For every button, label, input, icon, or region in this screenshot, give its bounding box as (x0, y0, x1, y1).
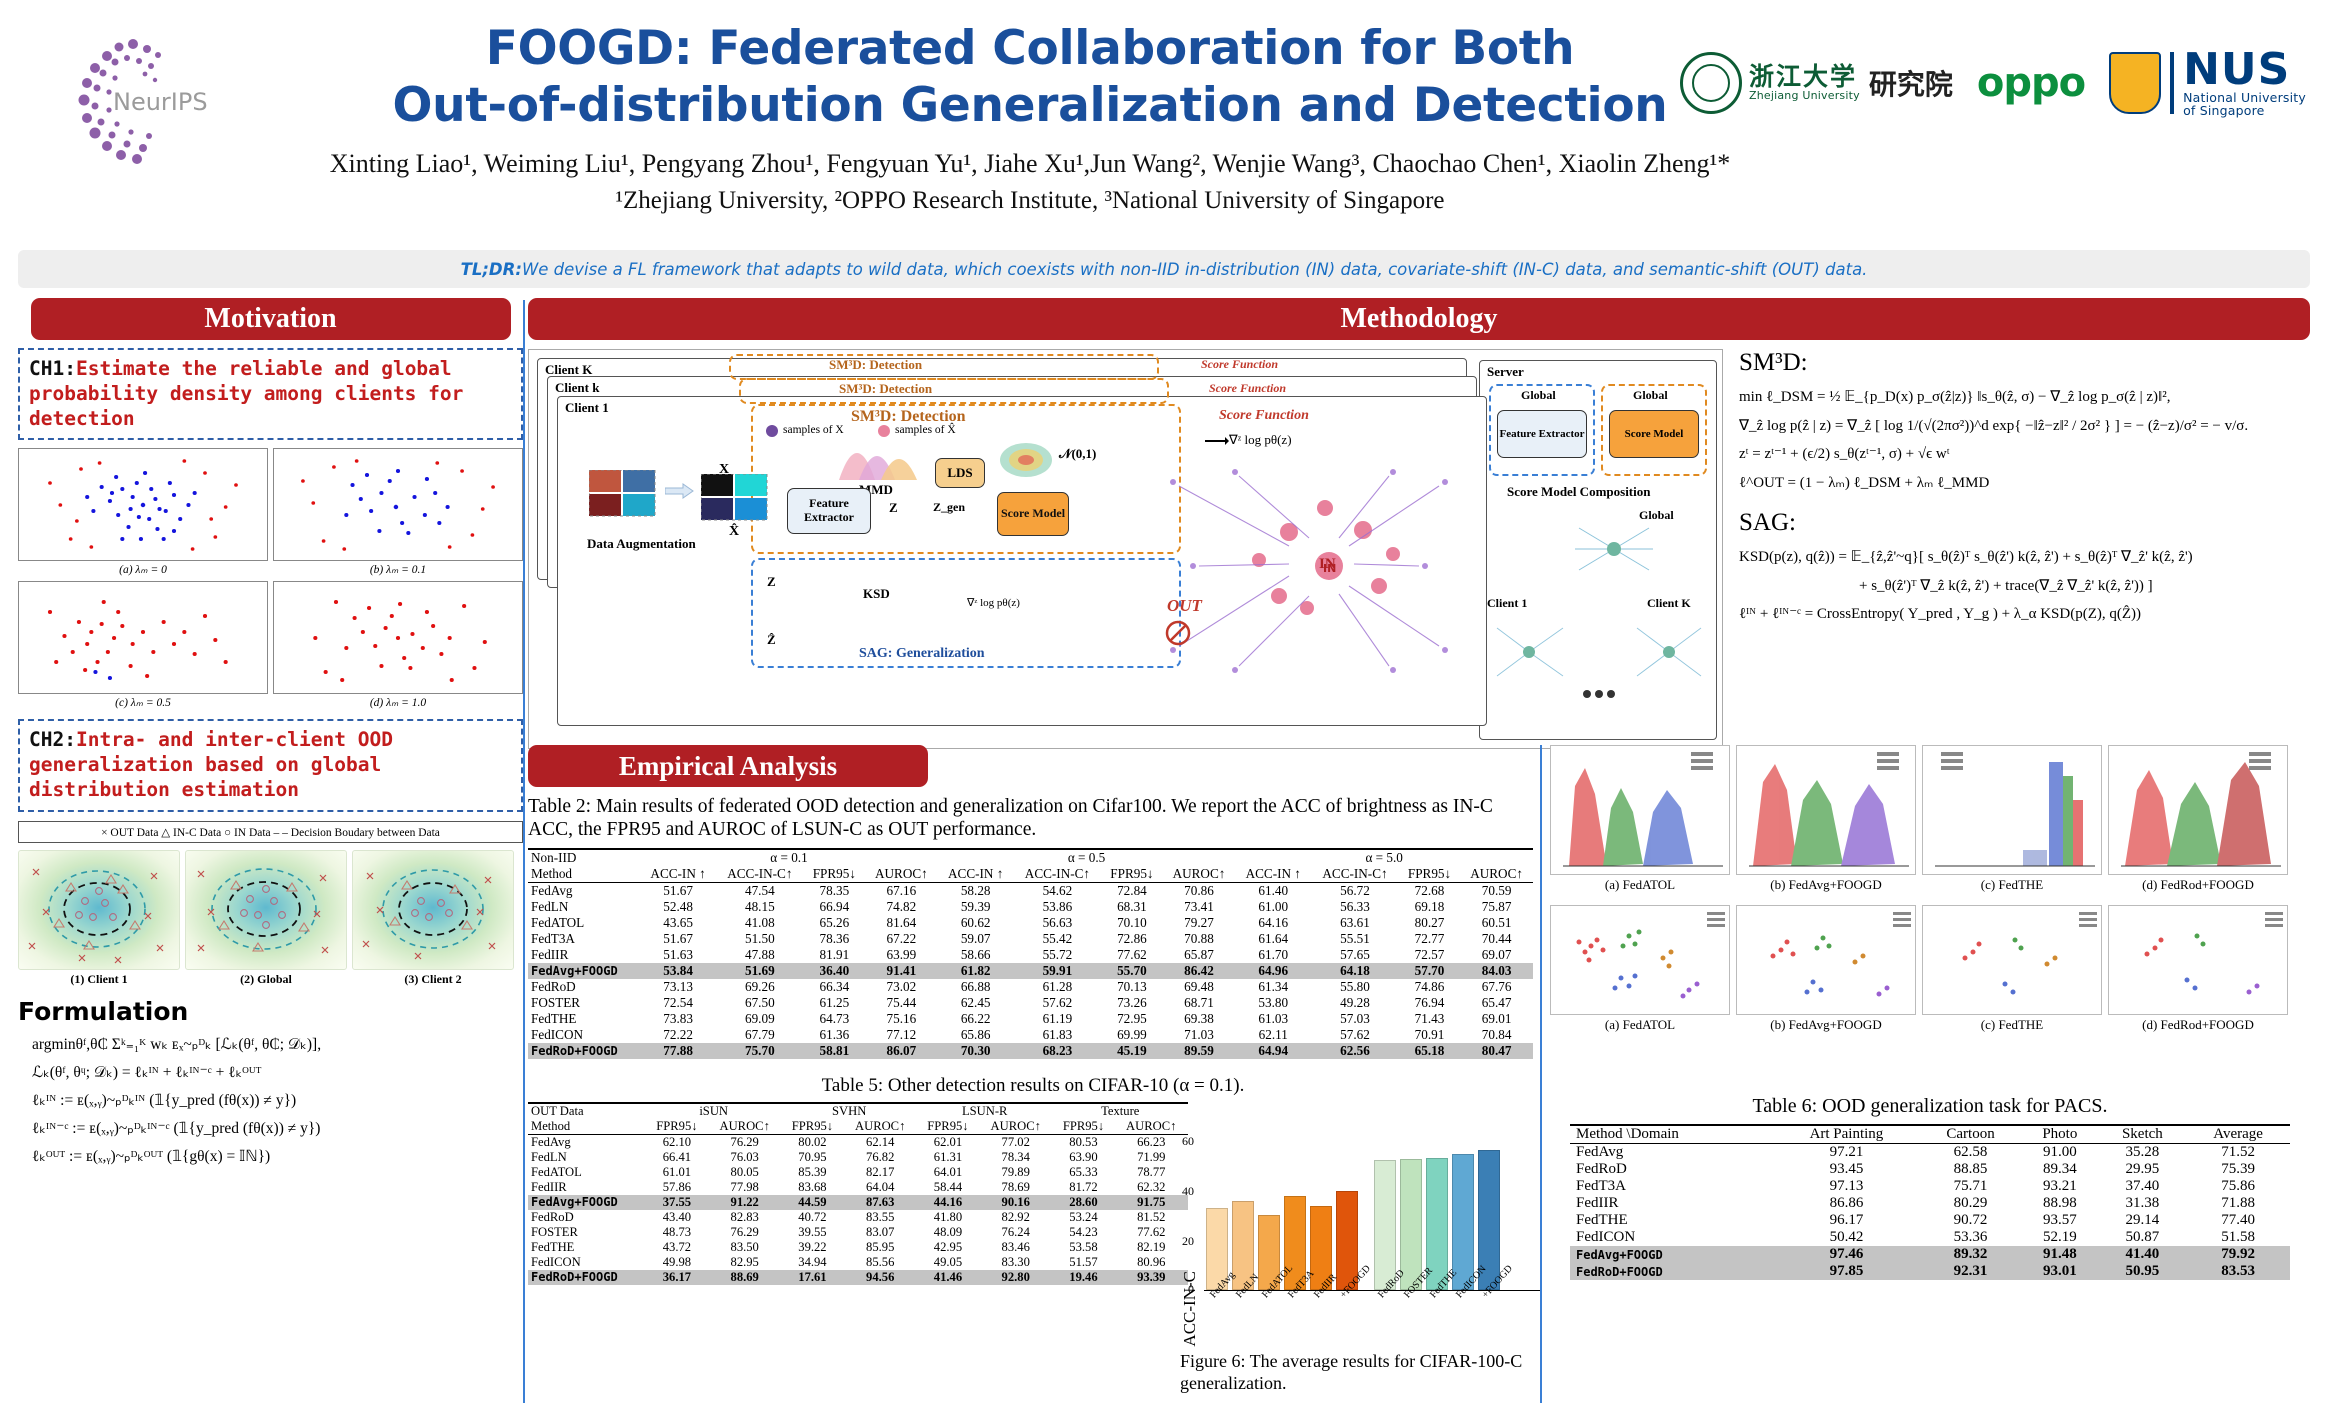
table-cell: 70.13 (1101, 979, 1162, 995)
table-cell: 65.26 (804, 915, 865, 931)
table-cell: 31.38 (2099, 1195, 2187, 1212)
equation-ksd-1: KSD(p(z), q(ẑ)) = 𝔼_{ẑ,ẑ'~q}[ s_θ(ẑ)… (1739, 543, 2303, 572)
table-cell: 53.24 (1052, 1210, 1114, 1225)
table-cell: 71.43 (1399, 1011, 1460, 1027)
table-cell: 71.03 (1163, 1027, 1236, 1043)
client-label-K: Client K (545, 362, 592, 378)
table-row: FedAvg+FOOGD37.5591.2244.5987.6344.1690.… (528, 1195, 1188, 1210)
table-cell: 81.91 (804, 947, 865, 963)
table-cell: 82.83 (708, 1210, 781, 1225)
table-cell: 51.67 (640, 882, 716, 899)
row-method-name: FedLN (528, 899, 640, 915)
table5-caption: Table 5: Other detection results on CIFA… (528, 1075, 1538, 1097)
table-cell: 84.03 (1460, 963, 1533, 979)
row-method-name: FedTHE (528, 1011, 640, 1027)
tldr-prefix: TL;DR: (461, 260, 522, 279)
table-cell: 72.86 (1101, 931, 1162, 947)
challenge-1-key: CH1: (29, 357, 76, 380)
table-cell: 70.86 (1163, 882, 1236, 899)
table-cell: 64.18 (1311, 963, 1399, 979)
table-row: FedICON72.2267.7961.3677.1265.8661.8369.… (528, 1027, 1533, 1043)
table-cell: 66.23 (1115, 1134, 1189, 1150)
table-cell: 55.42 (1014, 931, 1102, 947)
column-divider-1 (523, 300, 525, 1403)
table2-col-header: ACC-IN ↑ (640, 866, 716, 883)
table-cell: 61.36 (804, 1027, 865, 1043)
table-cell: 70.95 (781, 1150, 843, 1165)
table-cell: 89.32 (1920, 1246, 2021, 1263)
table-cell: 69.07 (1460, 947, 1533, 963)
poster-header: NeurIPS FOOGD: Federated Collaboration f… (0, 0, 2328, 245)
table-row: FedRoD+FOOGD36.1788.6917.6194.5641.4692.… (528, 1270, 1188, 1285)
table6-col-header: Art Painting (1773, 1125, 1920, 1144)
table-cell: 69.48 (1163, 979, 1236, 995)
table-cell: 72.77 (1399, 931, 1460, 947)
table-cell: 77.02 (979, 1134, 1052, 1150)
row-method-name: FedICON (528, 1255, 646, 1270)
scatter-plot-a (18, 448, 268, 561)
table-cell: 76.24 (979, 1225, 1052, 1240)
table-cell: 58.81 (804, 1043, 865, 1059)
row-method-name: FedRoD (528, 1210, 646, 1225)
table-cell: 35.28 (2099, 1144, 2187, 1162)
table-row: FedICON50.4253.3652.1950.8751.58 (1570, 1229, 2290, 1246)
zju-name-en: Zhejiang University (1749, 90, 1860, 102)
table-row: FOSTER72.5467.5061.2575.4462.4557.6273.2… (528, 995, 1533, 1011)
table-cell: 62.14 (843, 1134, 916, 1150)
table2-alpha-group-1: α = 0.1 (640, 849, 938, 866)
xhat-label: X̂ (729, 524, 739, 540)
table5-method-header: Method (528, 1119, 646, 1135)
table-cell: 78.77 (1115, 1165, 1189, 1180)
lds-box: LDS (935, 458, 985, 488)
table-cell: 79.92 (2186, 1246, 2290, 1263)
table-cell: 51.57 (1052, 1255, 1114, 1270)
row-method-name: FedIIR (528, 947, 640, 963)
table-cell: 62.56 (1311, 1043, 1399, 1059)
table-row: FedRoD43.4082.8340.7283.5541.8082.9253.2… (528, 1210, 1188, 1225)
table2-col-header: FPR95↓ (1101, 866, 1162, 883)
table-cell: 66.88 (938, 979, 1014, 995)
table-cell: 59.91 (1014, 963, 1102, 979)
table-cell: 91.75 (1115, 1195, 1189, 1210)
row-method-name: FedTHE (528, 1240, 646, 1255)
challenge-1-value: Estimate the reliable and global probabi… (29, 357, 463, 430)
table-row: FedRoD+FOOGD97.8592.3193.0150.9583.53 (1570, 1263, 2290, 1280)
table-cell: 65.18 (1399, 1043, 1460, 1059)
table-cell: 34.94 (781, 1255, 843, 1270)
table6-caption: Table 6: OOD generalization task for PAC… (1550, 1095, 2310, 1118)
table-cell: 49.05 (917, 1255, 979, 1270)
table2-col-header: ACC-IN-C↑ (716, 866, 804, 883)
table5-corner-label: OUT Data (528, 1103, 646, 1119)
table-cell: 82.19 (1115, 1240, 1189, 1255)
table-cell: 47.54 (716, 882, 804, 899)
table-row: FedAvg+FOOGD97.4689.3291.4841.4079.92 (1570, 1246, 2290, 1263)
table-cell: 78.34 (979, 1150, 1052, 1165)
table-cell: 61.19 (1014, 1011, 1102, 1027)
table-cell: 43.65 (640, 915, 716, 931)
table5-col-header: FPR95↓ (1052, 1119, 1114, 1135)
framework-diagram: Client K Client k Client 1 SM³D: Detecti… (528, 349, 1723, 749)
histogram-panel-c (1922, 745, 2102, 875)
row-method-name: FedT3A (528, 931, 640, 947)
table-cell: 85.95 (843, 1240, 916, 1255)
table-cell: 93.21 (2021, 1178, 2098, 1195)
table-cell: 66.34 (804, 979, 865, 995)
equation-dsm: min ℓ_DSM = ½ 𝔼_{p_D(x) p_σ(ẑ|z)} ‖s_θ(… (1739, 383, 2303, 412)
histogram-row: (a) FedATOL (b) FedAvg+FOOGD (1550, 745, 2288, 893)
table-cell: 67.76 (1460, 979, 1533, 995)
table-cell: 70.88 (1163, 931, 1236, 947)
table-row: FedTHE96.1790.7293.5729.1477.40 (1570, 1212, 2290, 1229)
table-cell: 68.23 (1014, 1043, 1102, 1059)
table2-alpha-group-2: α = 0.5 (938, 849, 1236, 866)
table-cell: 80.96 (1115, 1255, 1189, 1270)
histogram-panel-d (2108, 745, 2288, 875)
table-6-column: Table 6: OOD generalization task for PAC… (1550, 1095, 2310, 1280)
table-cell: 69.18 (1399, 899, 1460, 915)
table5-col-header: AUROC↑ (979, 1119, 1052, 1135)
row-method-name: FedTHE (1570, 1212, 1773, 1229)
table-cell: 90.16 (979, 1195, 1052, 1210)
score-function-formula: ∇ᶻ log pθ(z) (1229, 432, 1292, 448)
column-divider-2 (1540, 745, 1542, 1403)
table-cell: 51.67 (640, 931, 716, 947)
neurips-logo: NeurIPS (55, 28, 230, 178)
table6-header-row: Method \DomainArt PaintingCartoonPhotoSk… (1570, 1125, 2290, 1144)
table-cell: 76.03 (708, 1150, 781, 1165)
table-cell: 48.09 (917, 1225, 979, 1240)
table-row: FedIIR57.8677.9883.6864.0458.4478.6981.7… (528, 1180, 1188, 1195)
table-cell: 73.83 (640, 1011, 716, 1027)
client-label-1: Client 1 (565, 400, 609, 416)
nus-logo: NUS National University of Singapore (2109, 48, 2306, 117)
client-caption-global: (2) Global (185, 972, 347, 987)
table-cell: 45.19 (1101, 1043, 1162, 1059)
table-row: FedAvg97.2162.5891.0035.2871.52 (1570, 1144, 2290, 1162)
table2-caption: Table 2: Main results of federated OOD d… (528, 795, 1538, 842)
equation-loss-out: ℓ^OUT = (1 − λₘ) ℓ_DSM + λₘ ℓ_MMD (1739, 469, 2303, 498)
table-cell: 82.92 (979, 1210, 1052, 1225)
table-cell: 61.82 (938, 963, 1014, 979)
table-cell: 83.30 (979, 1255, 1052, 1270)
table-cell: 76.29 (708, 1134, 781, 1150)
table-cell: 29.95 (2099, 1161, 2187, 1178)
table-row: FedIIR51.6347.8881.9163.9958.6655.7277.6… (528, 947, 1533, 963)
table-cell: 93.57 (2021, 1212, 2098, 1229)
scatter-caption-a: (a) λₘ = 0 (18, 562, 268, 576)
table-cell: 72.68 (1399, 882, 1460, 899)
sm3d-equations-heading: SM³D: (1739, 349, 2303, 377)
table-cell: 85.39 (781, 1165, 843, 1180)
table-cell: 36.17 (646, 1270, 708, 1285)
table-cell: 75.71 (1920, 1178, 2021, 1195)
table-cell: 96.17 (1773, 1212, 1920, 1229)
motivation-legend: × OUT Data △ IN-C Data ○ IN Data ‒ ‒ Dec… (18, 821, 523, 843)
page-title-line-2: Out-of-distribution Generalization and D… (300, 77, 1760, 134)
tsne-caption-b: (b) FedAvg+FOOGD (1736, 1017, 1916, 1033)
sag-label: SAG: Generalization (859, 646, 985, 662)
table-cell: 41.46 (917, 1270, 979, 1285)
out-region-label: OUT (1167, 596, 1202, 616)
table2-col-header: FPR95↓ (1399, 866, 1460, 883)
normal-distribution-label: 𝒩(0,1) (1059, 446, 1096, 462)
score-function-label-mid: Score Function (1209, 381, 1286, 396)
row-method-name: FedRoD (1570, 1161, 1773, 1178)
server-global-label-1: Global (1521, 388, 1556, 403)
score-model-box: Score Model (997, 492, 1069, 536)
table5-group-1-body: FedAvg62.1076.2980.0262.1462.0177.0280.5… (528, 1134, 1188, 1210)
table-cell: 39.55 (781, 1225, 843, 1240)
table-row: FedTHE43.7283.5039.2285.9542.9583.4653.5… (528, 1240, 1188, 1255)
table-cell: 61.25 (804, 995, 865, 1011)
table6-body: FedAvg97.2162.5891.0035.2871.52FedRoD93.… (1570, 1144, 2290, 1281)
z-label-lower: Z (767, 574, 776, 590)
table-cell: 80.02 (781, 1134, 843, 1150)
table-cell: 61.40 (1235, 882, 1311, 899)
table-cell: 44.59 (781, 1195, 843, 1210)
table-cell: 29.14 (2099, 1212, 2187, 1229)
row-method-name: FOSTER (528, 995, 640, 1011)
table2-col-header: ACC-IN ↑ (1235, 866, 1311, 883)
zgen-label: Z_gen (933, 500, 965, 515)
server-label: Server (1487, 364, 1524, 380)
row-method-name: FedICON (1570, 1229, 1773, 1246)
row-method-name: FedIIR (528, 1180, 646, 1195)
table5-col-header: FPR95↓ (781, 1119, 843, 1135)
title-block: FOOGD: Federated Collaboration for Both … (300, 20, 1760, 215)
table-cell: 63.99 (865, 947, 938, 963)
ksd-label: KSD (863, 586, 890, 602)
table-cell: 48.15 (716, 899, 804, 915)
table-cell: 61.03 (1235, 1011, 1311, 1027)
tsne-panel-b (1736, 905, 1916, 1015)
table-cell: 63.90 (1052, 1150, 1114, 1165)
nus-divider (2170, 52, 2174, 114)
zju-name-cn: 浙江大学 (1749, 64, 1860, 90)
tsne-panel-a (1550, 905, 1730, 1015)
oppo-logo: oppo (1977, 60, 2085, 106)
zju-seal-icon (1680, 52, 1742, 114)
table-cell: 77.62 (1101, 947, 1162, 963)
neurips-logo-label: NeurIPS (113, 88, 208, 116)
oppo-wordmark: oppo (1977, 60, 2085, 106)
formulation-heading: Formulation (18, 997, 523, 1026)
table-cell: 61.83 (1014, 1027, 1102, 1043)
table6-col-header: Sketch (2099, 1125, 2187, 1144)
table-cell: 51.58 (2186, 1229, 2290, 1246)
table-cell: 70.44 (1460, 931, 1533, 947)
score-function-title: Score Function (1219, 408, 1309, 424)
table-cell: 39.22 (781, 1240, 843, 1255)
client-caption-2: (3) Client 2 (352, 972, 514, 987)
table-cell: 74.86 (1399, 979, 1460, 995)
score-model-composition-label: Score Model Composition (1507, 484, 1650, 500)
global-distribution-plot (185, 850, 347, 970)
row-method-name: FedAvg+FOOGD (1570, 1246, 1773, 1263)
challenge-1-box: CH1:Estimate the reliable and global pro… (18, 348, 523, 440)
table-cell: 78.35 (804, 882, 865, 899)
lambda-scatter-grid: (a) λₘ = 0 (18, 448, 523, 709)
table-cell: 36.40 (804, 963, 865, 979)
table-cell: 40.72 (781, 1210, 843, 1225)
table-cell: 78.69 (979, 1180, 1052, 1195)
table-cell: 52.19 (2021, 1229, 2098, 1246)
table-cell: 41.08 (716, 915, 804, 931)
table-cell: 73.26 (1101, 995, 1162, 1011)
table2-method-header: Method (528, 866, 640, 883)
histogram-panel-b (1736, 745, 1916, 875)
table-cell: 80.47 (1460, 1043, 1533, 1059)
table-cell: 67.16 (865, 882, 938, 899)
table-cell: 75.16 (865, 1011, 938, 1027)
table-cell: 81.72 (1052, 1180, 1114, 1195)
table-row: FedICON49.9882.9534.9485.5649.0583.3051.… (528, 1255, 1188, 1270)
table-cell: 71.99 (1115, 1150, 1189, 1165)
client-caption-1: (1) Client 1 (18, 972, 180, 987)
table-cell: 67.79 (716, 1027, 804, 1043)
table-cell: 49.28 (1311, 995, 1399, 1011)
table-row: FOSTER48.7376.2939.5583.0748.0976.2454.2… (528, 1225, 1188, 1240)
table-cell: 37.40 (2099, 1178, 2187, 1195)
figure6-bar (1400, 1159, 1422, 1290)
table5-dataset-texture: Texture (1052, 1103, 1188, 1119)
table-cell: 56.33 (1311, 899, 1399, 915)
table-cell: 65.33 (1052, 1165, 1114, 1180)
table-cell: 83.07 (843, 1225, 916, 1240)
table5-col-header: FPR95↓ (917, 1119, 979, 1135)
table-cell: 58.66 (938, 947, 1014, 963)
table-row: FedLN52.4848.1566.9474.8259.3953.8668.31… (528, 899, 1533, 915)
histogram-caption-d: (d) FedRod+FOOGD (2108, 877, 2288, 893)
scatter-caption-c: (c) λₘ = 0.5 (18, 695, 268, 709)
client-2-plot (352, 850, 514, 970)
table-cell: 50.87 (2099, 1229, 2187, 1246)
table-cell: 68.31 (1101, 899, 1162, 915)
table-cell: 70.30 (938, 1043, 1014, 1059)
table5-dataset-svhn: SVHN (781, 1103, 917, 1119)
table-cell: 72.84 (1101, 882, 1162, 899)
table-cell: 62.45 (938, 995, 1014, 1011)
row-method-name: FedAvg (528, 1134, 646, 1150)
author-list: Xinting Liao¹, Weiming Liu¹, Pengyang Zh… (300, 147, 1760, 181)
figure6-caption: Figure 6: The average results for CIFAR-… (1180, 1351, 1540, 1394)
table-cell: 91.48 (2021, 1246, 2098, 1263)
table-row: FedTHE73.8369.0964.7375.1666.2261.1972.9… (528, 1011, 1533, 1027)
formula-loss-out: ℓₖᴼᵁᵀ := ᴇ(ₓ,ᵧ)~ₚᴰₖᴼᵁᵀ (𝟙{gθ(x) = 𝕀ℕ}) (32, 1147, 523, 1166)
sag-equations-heading: SAG: (1739, 509, 2303, 537)
table2-group-1-body: FedAvg51.6747.5478.3567.1658.2854.6272.8… (528, 882, 1533, 979)
table-cell: 41.40 (2099, 1246, 2187, 1263)
table-cell: 53.58 (1052, 1240, 1114, 1255)
table-cell: 82.95 (708, 1255, 781, 1270)
table-cell: 71.52 (2186, 1144, 2290, 1162)
table2-corner-label: Non-IID (528, 849, 640, 866)
row-method-name: FOSTER (528, 1225, 646, 1240)
figure-6-chart: ACC-IN-C 60 40 20 0 FedAvgFedLNFedATOLFe… (1180, 1140, 1540, 1394)
table-row: FedAvg+FOOGD53.8451.6936.4091.4161.8259.… (528, 963, 1533, 979)
table-cell: 75.87 (1460, 899, 1533, 915)
table-cell: 73.41 (1163, 899, 1236, 915)
table-cell: 57.62 (1311, 1027, 1399, 1043)
row-method-name: FedICON (528, 1027, 640, 1043)
methodology-equations: SM³D: min ℓ_DSM = ½ 𝔼_{p_D(x) p_σ(ẑ|z)}… (1733, 349, 2303, 749)
figure6-bar (1452, 1154, 1474, 1290)
table-cell: 51.50 (716, 931, 804, 947)
table-cell: 77.40 (2186, 1212, 2290, 1229)
server-feature-extractor-box: Feature Extractor (1497, 410, 1587, 458)
server-global-label-2: Global (1633, 388, 1668, 403)
table-6-pacs: Method \DomainArt PaintingCartoonPhotoSk… (1570, 1124, 2290, 1280)
table-cell: 61.34 (1235, 979, 1311, 995)
table-cell: 86.86 (1773, 1195, 1920, 1212)
table-cell: 61.00 (1235, 899, 1311, 915)
histogram-panel-a (1550, 745, 1730, 875)
table-cell: 41.80 (917, 1210, 979, 1225)
table-row: FedATOL61.0180.0585.3982.1764.0179.8965.… (528, 1165, 1188, 1180)
histogram-caption-b: (b) FedAvg+FOOGD (1736, 877, 1916, 893)
table-cell: 94.56 (843, 1270, 916, 1285)
table-cell: 53.80 (1235, 995, 1311, 1011)
table-cell: 75.86 (2186, 1178, 2290, 1195)
table5-group-2-body: FedRoD43.4082.8340.7283.5541.8082.9253.2… (528, 1210, 1188, 1285)
table-cell: 66.41 (646, 1150, 708, 1165)
table-cell: 73.13 (640, 979, 716, 995)
table-cell: 53.36 (1920, 1229, 2021, 1246)
table-cell: 80.53 (1052, 1134, 1114, 1150)
table-cell: 59.07 (938, 931, 1014, 947)
table-cell: 70.10 (1101, 915, 1162, 931)
table-cell: 75.70 (716, 1043, 804, 1059)
table5-col-header: AUROC↑ (1115, 1119, 1189, 1135)
tldr-text: We devise a FL framework that adapts to … (522, 260, 1867, 279)
table2-col-header: ACC-IN ↑ (938, 866, 1014, 883)
table-cell: 53.84 (640, 963, 716, 979)
table-cell: 79.89 (979, 1165, 1052, 1180)
zhejiang-university-logo: 浙江大学 Zhejiang University 研究院 (1680, 52, 1953, 114)
tsne-caption-c: (c) FedTHE (1922, 1017, 2102, 1033)
table-cell: 55.80 (1311, 979, 1399, 995)
client-label-k: Client k (555, 380, 599, 396)
table-row: FedT3A97.1375.7193.2137.4075.86 (1570, 1178, 2290, 1195)
figure6-ytick-40: 40 (1182, 1184, 1194, 1199)
row-method-name: FedAvg (528, 882, 640, 899)
table-cell: 78.36 (804, 931, 865, 947)
table-row: FedRoD73.1369.2666.3473.0266.8861.2870.1… (528, 979, 1533, 995)
table-cell: 52.48 (640, 899, 716, 915)
empirical-analysis-banner: Empirical Analysis (528, 745, 928, 787)
table6-col-header: Photo (2021, 1125, 2098, 1144)
score-function-label-top: Score Function (1201, 357, 1278, 372)
table-cell: 92.80 (979, 1270, 1052, 1285)
motivation-banner: Motivation (31, 298, 511, 340)
table-5-cifar10-detection: OUT Data iSUN SVHN LSUN-R Texture Method… (528, 1102, 1188, 1285)
table-cell: 83.53 (2186, 1263, 2290, 1280)
row-method-name: FedLN (528, 1150, 646, 1165)
table-cell: 56.72 (1311, 882, 1399, 899)
table-cell: 48.73 (646, 1225, 708, 1240)
row-method-name: FedRoD (528, 979, 640, 995)
table-cell: 65.87 (1163, 947, 1236, 963)
table-cell: 62.01 (917, 1134, 979, 1150)
table-cell: 67.50 (716, 995, 804, 1011)
table-row: FedRoD93.4588.8589.3429.9575.39 (1570, 1161, 2290, 1178)
table-cell: 72.22 (640, 1027, 716, 1043)
row-method-name: FedATOL (528, 1165, 646, 1180)
table-cell: 64.04 (843, 1180, 916, 1195)
row-method-name: FedAvg+FOOGD (528, 1195, 646, 1210)
